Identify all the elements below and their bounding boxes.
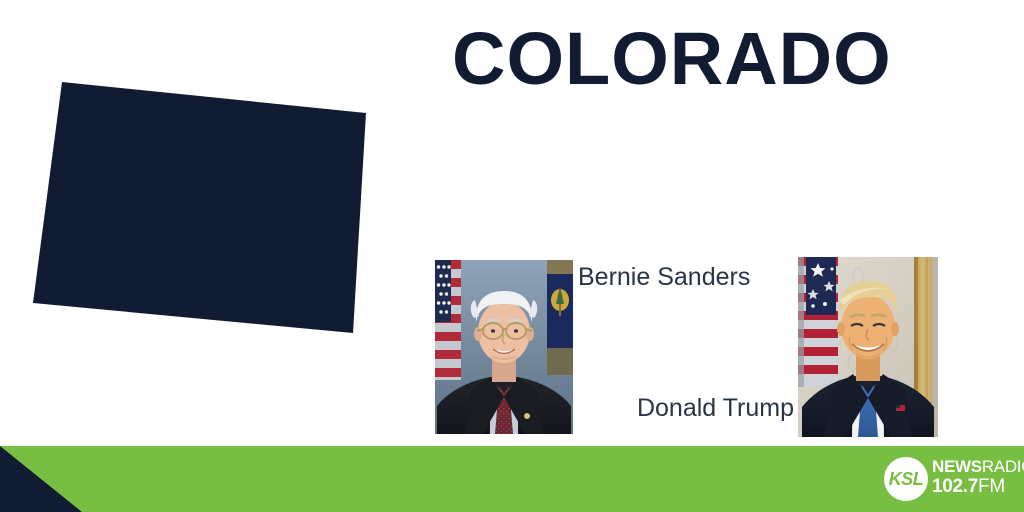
trump-portrait: [798, 257, 938, 437]
candidate-name-sanders: Bernie Sanders: [578, 263, 750, 292]
ksl-badge-label: KSL: [884, 457, 928, 501]
ksl-frequency-text: 102.7: [932, 476, 978, 497]
ksl-wordmark-line-1: NEWSRADIO: [932, 458, 1024, 475]
us-flag-backdrop: [798, 257, 838, 387]
vermont-flag-backdrop: [547, 260, 573, 375]
footer-corner-accent: [0, 446, 90, 512]
us-flag-backdrop: [435, 260, 461, 380]
footer-band: [0, 446, 1024, 512]
ksl-radio-text: RADIO: [982, 457, 1024, 476]
candidate-name-trump: Donald Trump: [444, 394, 794, 423]
ksl-news-text: NEWS: [932, 457, 982, 476]
graphic-canvas: COLORADO: [0, 0, 1024, 512]
ksl-wordmark: NEWSRADIO 102.7FM: [932, 458, 1024, 496]
ksl-fm-text: FM: [978, 476, 1005, 497]
ksl-badge-circle: KSL: [884, 457, 928, 501]
ksl-wordmark-line-2: 102.7FM: [932, 477, 1024, 496]
page-title: COLORADO: [452, 22, 1012, 96]
colorado-state-outline-shape: [33, 82, 366, 333]
ksl-newsradio-logo: KSL NEWSRADIO 102.7FM: [884, 455, 1012, 503]
flag-lapel-pin: [896, 405, 905, 411]
colorado-state-map: [0, 0, 420, 380]
